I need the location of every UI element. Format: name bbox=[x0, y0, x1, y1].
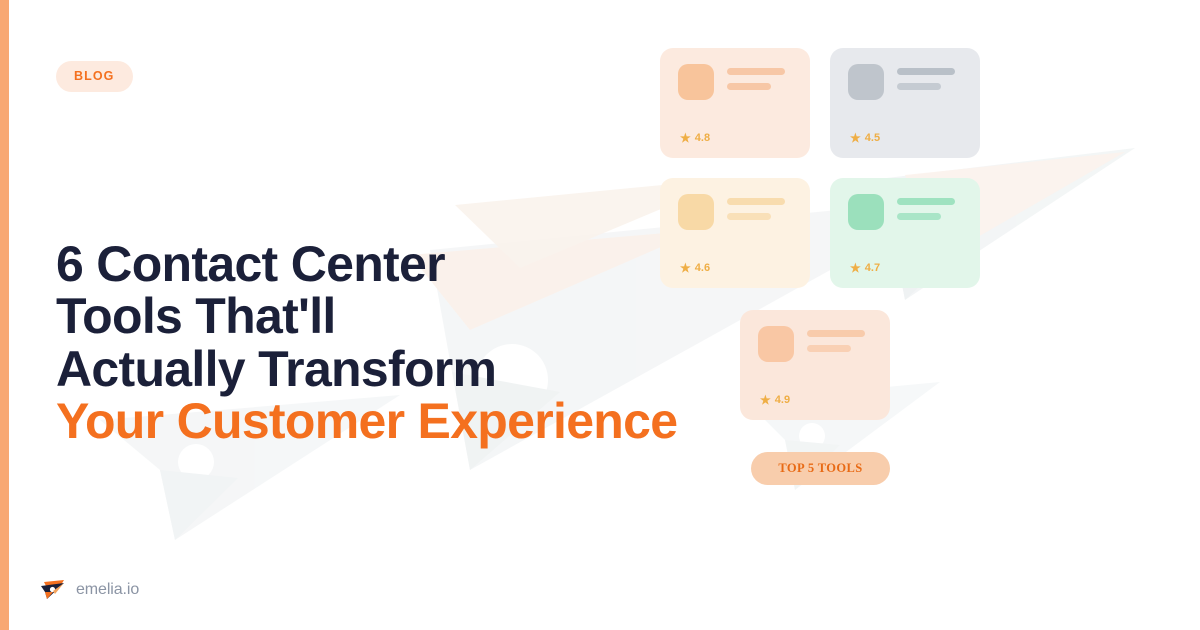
text-bar-long bbox=[727, 68, 785, 75]
text-bar-short bbox=[897, 83, 941, 90]
text-bar-short bbox=[727, 213, 771, 220]
headline-line-3: Actually Transform bbox=[56, 343, 696, 395]
tool-card: ★ 4.9 bbox=[740, 310, 890, 420]
rating-value: 4.9 bbox=[775, 394, 790, 406]
rating-value: 4.7 bbox=[865, 262, 880, 274]
star-icon: ★ bbox=[760, 394, 771, 406]
tool-card: ★ 4.7 bbox=[830, 178, 980, 288]
card-content bbox=[678, 194, 794, 230]
page-title: 6 Contact Center Tools That'll Actually … bbox=[56, 238, 696, 447]
rating-value: 4.6 bbox=[695, 262, 710, 274]
headline-line-2: Tools That'll bbox=[56, 290, 696, 342]
card-content bbox=[848, 194, 964, 230]
text-bar-short bbox=[807, 345, 851, 352]
star-icon: ★ bbox=[850, 262, 861, 274]
card-text-placeholder bbox=[807, 326, 865, 352]
tool-card: ★ 4.5 bbox=[830, 48, 980, 158]
card-avatar-placeholder bbox=[848, 194, 884, 230]
card-rating: ★ 4.9 bbox=[760, 394, 790, 406]
card-rating: ★ 4.5 bbox=[850, 132, 880, 144]
headline-line-4-accent: Your Customer Experience bbox=[56, 395, 696, 447]
star-icon: ★ bbox=[680, 132, 691, 144]
text-bar-short bbox=[727, 83, 771, 90]
logo-text: emelia.io bbox=[76, 581, 139, 599]
text-bar-long bbox=[807, 330, 865, 337]
rating-value: 4.8 bbox=[695, 132, 710, 144]
card-text-placeholder bbox=[727, 64, 785, 90]
headline-line-1: 6 Contact Center bbox=[56, 238, 696, 290]
card-avatar-placeholder bbox=[758, 326, 794, 362]
text-bar-long bbox=[897, 198, 955, 205]
card-rating: ★ 4.7 bbox=[850, 262, 880, 274]
card-content bbox=[678, 64, 794, 100]
top-5-tools-badge: TOP 5 TOOLS bbox=[751, 452, 890, 485]
blog-badge: BLOG bbox=[56, 61, 133, 92]
tool-card: ★ 4.8 bbox=[660, 48, 810, 158]
card-rating: ★ 4.8 bbox=[680, 132, 710, 144]
blog-cover-canvas: BLOG 6 Contact Center Tools That'll Actu… bbox=[0, 0, 1200, 630]
card-avatar-placeholder bbox=[678, 194, 714, 230]
text-bar-long bbox=[897, 68, 955, 75]
card-content bbox=[758, 326, 874, 362]
text-bar-short bbox=[897, 213, 941, 220]
card-text-placeholder bbox=[897, 64, 955, 90]
paper-plane-icon bbox=[40, 578, 66, 602]
brand-logo: emelia.io bbox=[40, 578, 139, 602]
left-accent-bar bbox=[0, 0, 9, 630]
text-bar-long bbox=[727, 198, 785, 205]
card-avatar-placeholder bbox=[848, 64, 884, 100]
rating-value: 4.5 bbox=[865, 132, 880, 144]
card-text-placeholder bbox=[897, 194, 955, 220]
card-avatar-placeholder bbox=[678, 64, 714, 100]
star-icon: ★ bbox=[850, 132, 861, 144]
card-content bbox=[848, 64, 964, 100]
card-text-placeholder bbox=[727, 194, 785, 220]
